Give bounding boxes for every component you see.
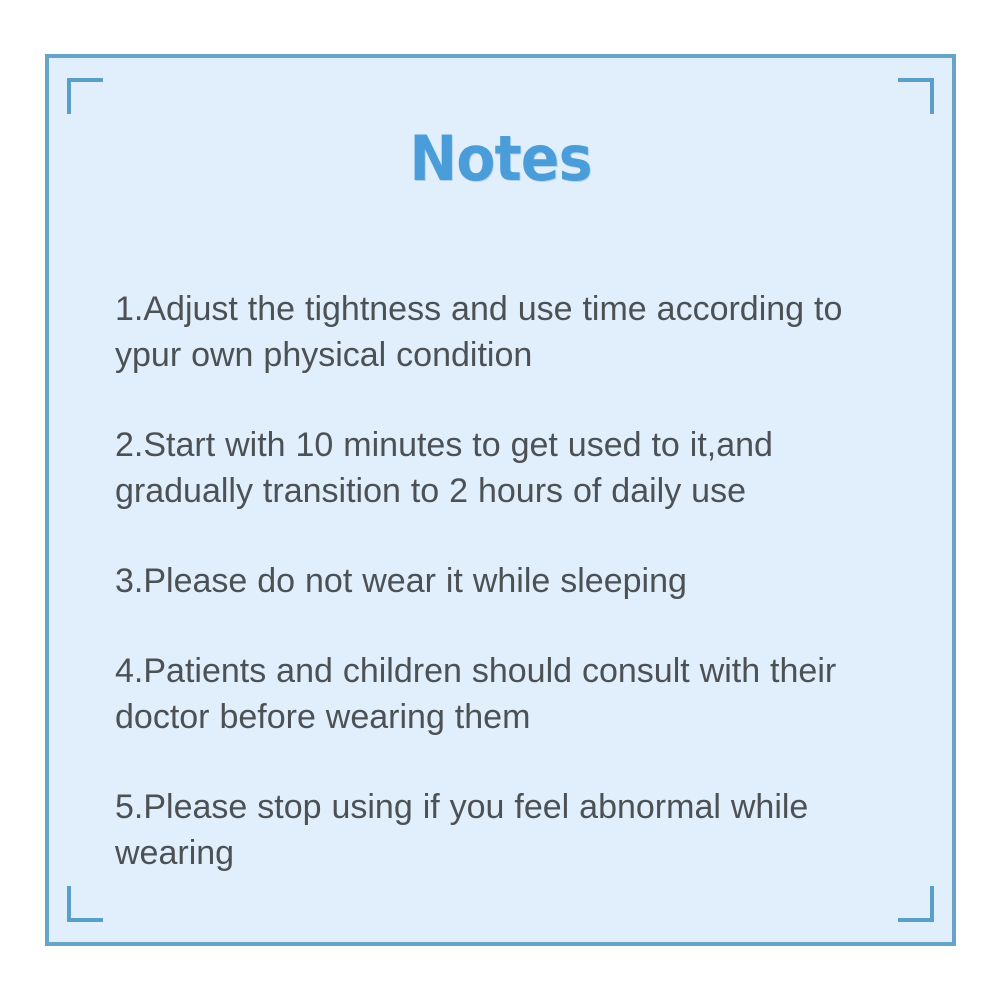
page-title: Notes [85,128,916,190]
corner-bracket-top-right-icon [898,78,934,114]
list-item: 4.Patients and children should consult w… [115,648,892,740]
list-item: 1.Adjust the tightness and use time acco… [115,286,892,378]
list-item: 3.Please do not wear it while sleeping [115,558,892,604]
list-item: 5.Please stop using if you feel abnormal… [115,784,892,876]
notes-card: Notes 1.Adjust the tightness and use tim… [45,54,956,946]
list-item: 2.Start with 10 minutes to get used to i… [115,422,892,514]
corner-bracket-bottom-right-icon [898,886,934,922]
notes-list: 1.Adjust the tightness and use time acco… [115,286,892,876]
corner-bracket-bottom-left-icon [67,886,103,922]
notes-card-container: Notes 1.Adjust the tightness and use tim… [0,0,1000,1000]
corner-bracket-top-left-icon [67,78,103,114]
